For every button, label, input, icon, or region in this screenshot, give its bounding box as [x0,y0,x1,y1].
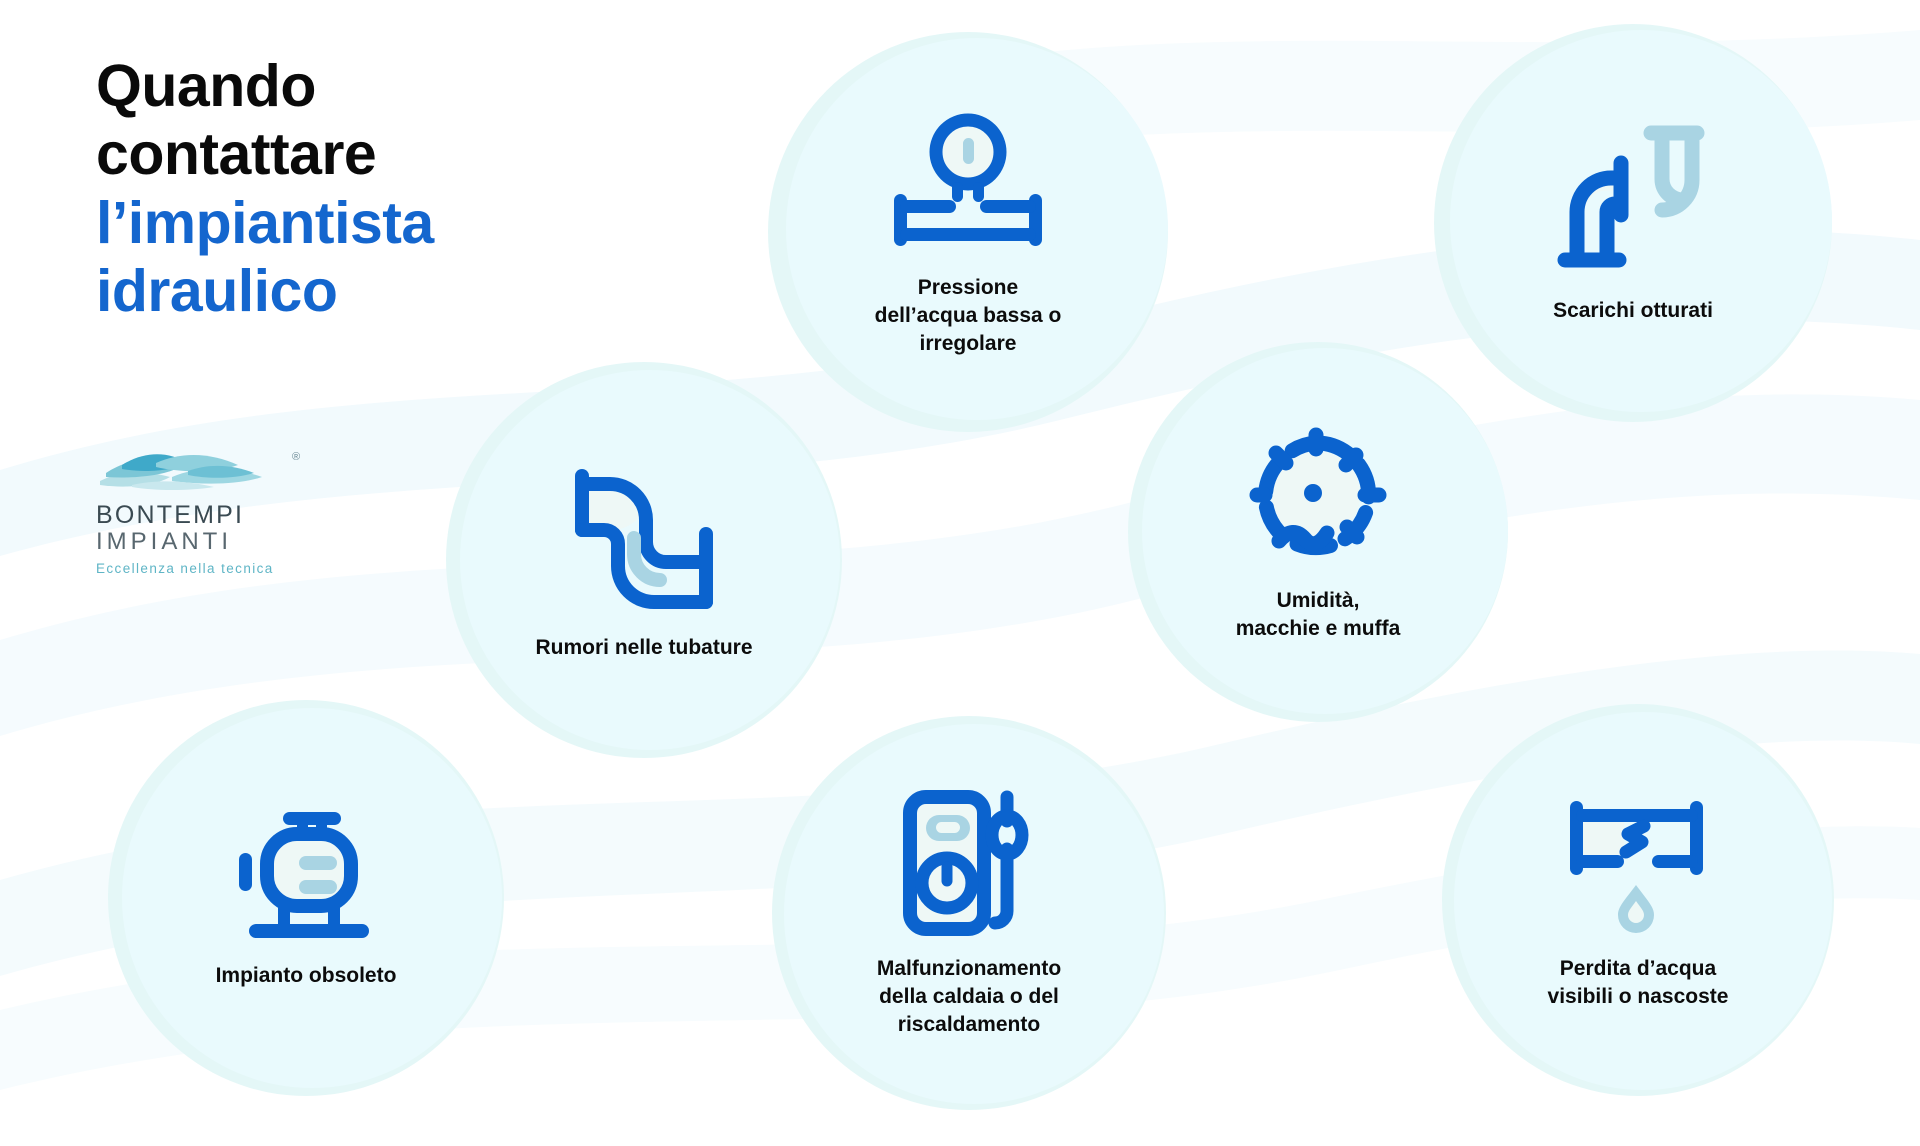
bubble-perdita[interactable]: Perdita d’acqua visibili o nascoste [1442,704,1834,1096]
headline-line-3: l’impiantista [96,189,616,257]
logo-name-line-2: IMPIANTI [96,529,322,556]
logo-company-name: BONTEMPI IMPIANTI [96,501,322,556]
old-boiler-tank-icon [223,806,389,946]
headline-line-4: idraulico [96,257,616,325]
brand-logo: ® BONTEMPI IMPIANTI Eccellenza nella tec… [92,445,322,576]
bubble-umidita[interactable]: Umidità, macchie e muffa [1128,342,1508,722]
bubble-caldaia[interactable]: Malfunzionamento della caldaia o del ris… [772,716,1166,1110]
bubble-caption: Perdita d’acqua visibili o nascoste [1548,955,1729,1011]
pressure-gauge-icon [882,106,1054,258]
registered-trademark-icon: ® [292,451,300,463]
s-bend-pipe-icon [560,458,728,618]
bubble-pressione[interactable]: Pressione dell’acqua bassa o irregolare [768,32,1168,432]
bubble-rumori[interactable]: Rumori nelle tubature [446,362,842,758]
infographic-canvas: Quando contattare l’impiantista idraulic… [0,0,1920,1146]
page-title: Quando contattare l’impiantista idraulic… [96,52,616,326]
bubble-caption: Malfunzionamento della caldaia o del ris… [877,955,1061,1039]
bubble-caption: Pressione dell’acqua bassa o irregolare [875,274,1062,358]
leaking-cracked-pipe-icon [1556,789,1720,939]
clogged-drain-pipes-icon [1555,121,1711,281]
bubble-caption: Rumori nelle tubature [535,634,752,662]
bubble-impianto[interactable]: Impianto obsoleto [108,700,504,1096]
headline-line-1: Quando [96,52,616,120]
wave-mark-icon [96,445,286,493]
bubble-scarichi[interactable]: Scarichi otturati [1434,24,1832,422]
mold-spore-icon [1243,421,1393,571]
bubble-caption: Scarichi otturati [1553,297,1713,325]
headline-line-2: contattare [96,120,616,188]
logo-tagline: Eccellenza nella tecnica [96,561,322,576]
bubble-caption: Impianto obsoleto [216,962,397,990]
bubble-caption: Umidità, macchie e muffa [1236,587,1401,643]
boiler-control-unit-icon [894,787,1044,939]
logo-name-line-1: BONTEMPI [96,501,244,529]
